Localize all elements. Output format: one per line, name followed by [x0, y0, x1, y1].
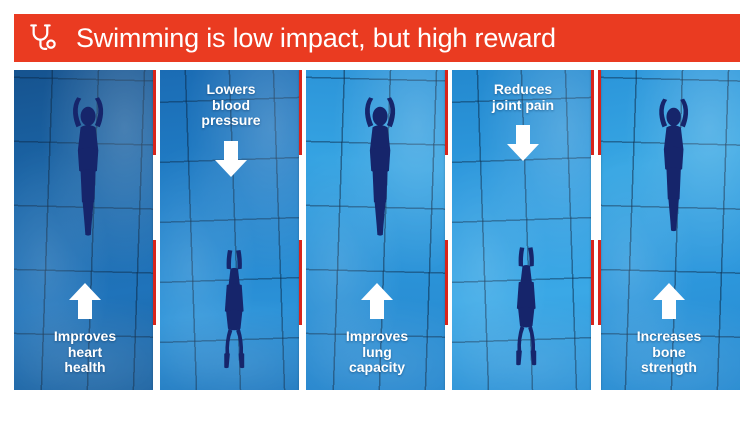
panel-blood-pressure[interactable]: Lowers blood pressure	[160, 70, 302, 390]
page-title: Swimming is low impact, but high reward	[76, 25, 556, 52]
infographic-page: Swimming is low impact, but high reward	[0, 0, 754, 424]
swimmer-arms-up	[641, 73, 706, 252]
swimmer-arms-up	[346, 76, 414, 252]
swimmer-streamline	[203, 230, 265, 390]
lane-rope	[598, 70, 601, 390]
lane-rope	[299, 70, 302, 390]
header-banner: Swimming is low impact, but high reward	[14, 14, 740, 62]
panel-heart-health[interactable]: Improves heart health	[14, 70, 156, 390]
panel-lung-capacity[interactable]: Improves lung capacity	[306, 70, 448, 390]
lane-rope	[153, 70, 156, 390]
panel-bone-strength[interactable]: Increases bone strength	[598, 70, 740, 390]
panel-strip: Improves heart health	[14, 70, 740, 390]
panel-joint-pain[interactable]: Reduces joint pain	[452, 70, 594, 390]
lane-rope	[445, 70, 448, 390]
stethoscope-icon	[26, 21, 60, 55]
lane-rope	[591, 70, 594, 390]
swimmer-streamline	[495, 224, 557, 390]
swimmer-arms-up	[54, 76, 122, 252]
